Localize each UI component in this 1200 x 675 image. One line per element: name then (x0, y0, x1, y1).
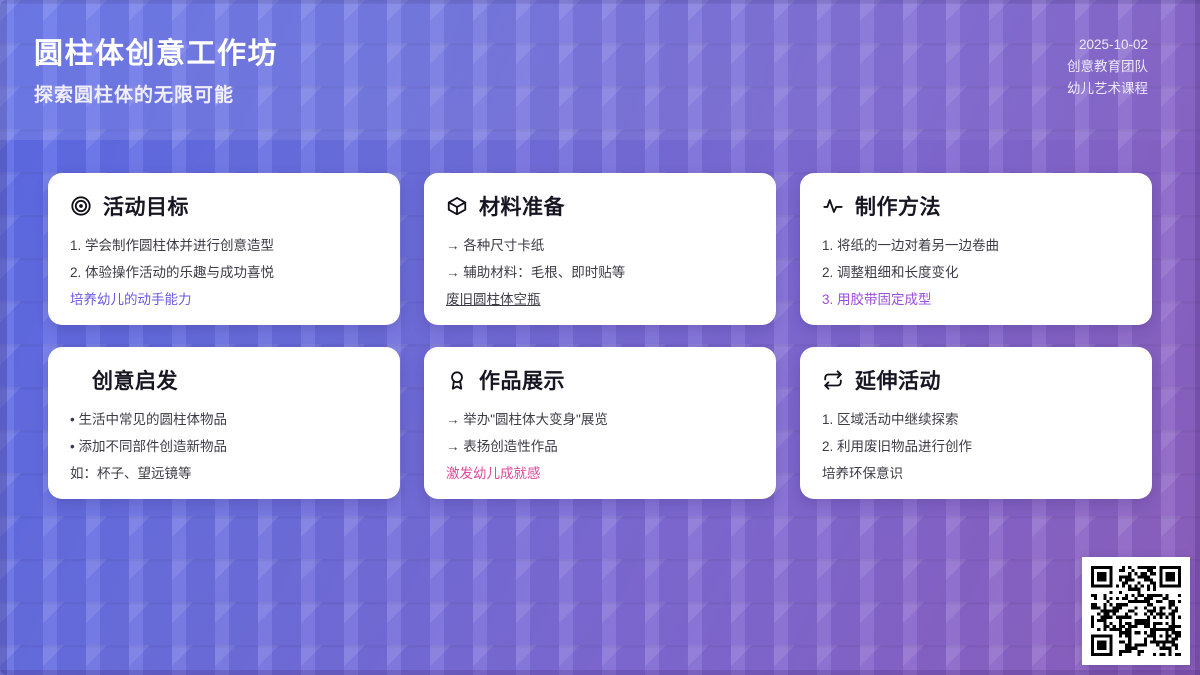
header-course: 幼儿艺术课程 (1067, 78, 1148, 100)
card-line: 激发幼儿成就感 (446, 460, 754, 487)
card-title: 活动目标 (103, 191, 189, 221)
box-icon (446, 195, 468, 217)
card-header: 作品展示 (446, 365, 754, 395)
card-title: 创意启发 (92, 365, 178, 395)
target-icon (70, 195, 92, 217)
card-line: 培养环保意识 (822, 460, 1130, 487)
card-grid: 活动目标1. 学会制作圆柱体并进行创意造型2. 体验操作活动的乐趣与成功喜悦培养… (48, 173, 1152, 499)
card-line: 2. 调整粗细和长度变化 (822, 259, 1130, 286)
card-line: 1. 学会制作圆柱体并进行创意造型 (70, 232, 378, 259)
card[interactable]: 创意启发• 生活中常见的圆柱体物品• 添加不同部件创造新物品如：杯子、望远镜等 (48, 347, 400, 499)
card-header: 材料准备 (446, 191, 754, 221)
card[interactable]: 活动目标1. 学会制作圆柱体并进行创意造型2. 体验操作活动的乐趣与成功喜悦培养… (48, 173, 400, 325)
card-title: 材料准备 (479, 191, 565, 221)
card-line: → 各种尺寸卡纸 (446, 232, 754, 259)
header-team: 创意教育团队 (1067, 56, 1148, 78)
qr-code-image (1091, 566, 1181, 656)
header-date: 2025-10-02 (1067, 34, 1148, 56)
card[interactable]: 材料准备→ 各种尺寸卡纸→ 辅助材料：毛根、即时贴等废旧圆柱体空瓶 (424, 173, 776, 325)
page-subtitle: 探索圆柱体的无限可能 (34, 80, 234, 107)
page-title: 圆柱体创意工作坊 (34, 30, 278, 72)
card-line: • 生活中常见的圆柱体物品 (70, 406, 378, 433)
card-line: 如：杯子、望远镜等 (70, 460, 378, 487)
header-meta: 2025-10-02 创意教育团队 幼儿艺术课程 (1067, 34, 1148, 100)
header-band: 圆柱体创意工作坊 探索圆柱体的无限可能 2025-10-02 创意教育团队 幼儿… (0, 0, 1200, 140)
card[interactable]: 延伸活动1. 区域活动中继续探索2. 利用废旧物品进行创作培养环保意识 (800, 347, 1152, 499)
card-line: 培养幼儿的动手能力 (70, 286, 378, 313)
card-line: 3. 用胶带固定成型 (822, 286, 1130, 313)
card-line: → 表扬创造性作品 (446, 433, 754, 460)
award-icon (446, 369, 468, 391)
repeat-icon (822, 369, 844, 391)
slide-canvas: 圆柱体创意工作坊 探索圆柱体的无限可能 2025-10-02 创意教育团队 幼儿… (0, 0, 1200, 675)
card-line: 1. 区域活动中继续探索 (822, 406, 1130, 433)
card[interactable]: 制作方法1. 将纸的一边对着另一边卷曲2. 调整粗细和长度变化3. 用胶带固定成… (800, 173, 1152, 325)
card-line: 2. 体验操作活动的乐趣与成功喜悦 (70, 259, 378, 286)
card-header: 活动目标 (70, 191, 378, 221)
frame-edge-bottom (0, 670, 1200, 675)
card-line: 废旧圆柱体空瓶 (446, 286, 754, 313)
card-header: 制作方法 (822, 191, 1130, 221)
card-line: 1. 将纸的一边对着另一边卷曲 (822, 232, 1130, 259)
card-line: 2. 利用废旧物品进行创作 (822, 433, 1130, 460)
card-title: 制作方法 (855, 191, 941, 221)
activity-icon (822, 195, 844, 217)
card-line: → 辅助材料：毛根、即时贴等 (446, 259, 754, 286)
card[interactable]: 作品展示→ 举办"圆柱体大变身"展览→ 表扬创造性作品激发幼儿成就感 (424, 347, 776, 499)
qr-code[interactable] (1082, 557, 1190, 665)
card-line: • 添加不同部件创造新物品 (70, 433, 378, 460)
card-header: 创意启发 (70, 365, 378, 395)
card-line: → 举办"圆柱体大变身"展览 (446, 406, 754, 433)
card-header: 延伸活动 (822, 365, 1130, 395)
card-title: 作品展示 (479, 365, 565, 395)
card-title: 延伸活动 (855, 365, 941, 395)
